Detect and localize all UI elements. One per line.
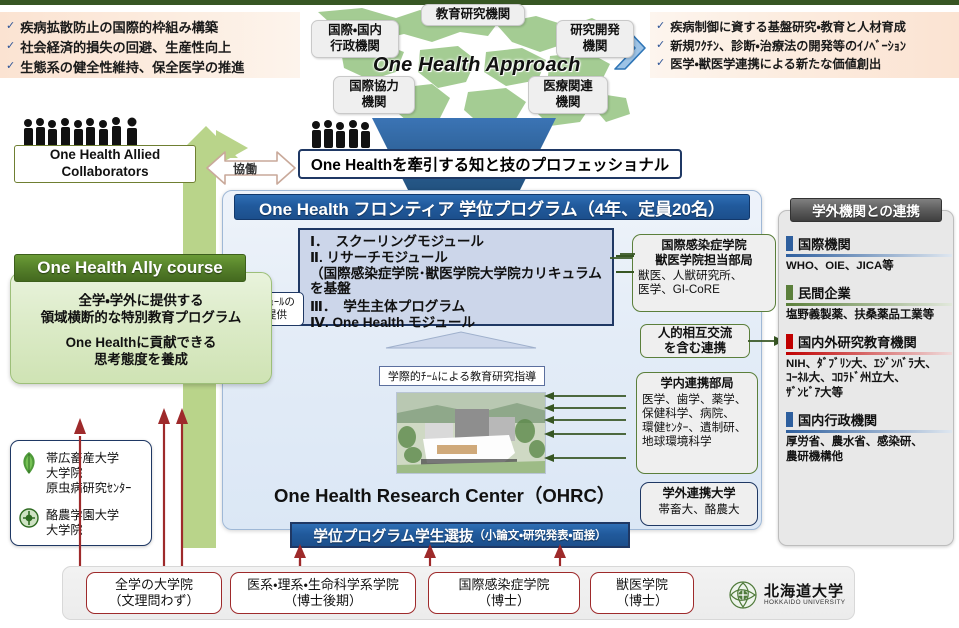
external-category: 国際機関 WHO、OIE、JICA等 — [786, 234, 952, 274]
interdisciplinary-team-text: 学際的ﾁｰﾑによる教育研究指導 — [388, 368, 536, 384]
university-name-en: HOKKAIDO UNIVERSITY — [764, 599, 845, 606]
infectious-disease-school-box: 国際感染症学院 獣医学院担当部局 獣医、人獣研究所、 医学、GI-CoRE — [632, 234, 776, 312]
upward-chevron-shape — [386, 330, 536, 348]
category-body: WHO、OIE、JICA等 — [786, 259, 952, 274]
source-box-label: 医系・理系・生命科学系学院 （博士後期） — [247, 577, 399, 610]
bullet-row: ✓医学・獣医学連携による新たな価値創出 — [656, 55, 951, 74]
human-exchange-box: 人的相互交流 を含む連携 — [640, 324, 750, 358]
bullet-text: 医学・獣医学連携による新たな価値創出 — [670, 55, 881, 74]
source-box-infectious-disease[interactable]: 国際感染症学院 （博士） — [428, 572, 580, 614]
professional-banner: One Healthを牽引する知と技のプロフェッショナル — [298, 149, 682, 179]
org-chip-label: 医療関連 機関 — [543, 79, 593, 111]
degree-program-title-bar: One Health フロンティア 学位プログラム（4年、定員20名） — [234, 194, 750, 220]
bullet-row: ✓疾病制御に資する基盤研究・教育と人材育成 — [656, 18, 951, 37]
category-body: NIH、ﾀﾞﾌﾞﾘﾝ大、ｴｼﾞﾝﾊﾞﾗ大、 ｺｰﾈﾙ大、ｺﾛﾗﾄﾞ州立大、 ｻﾞ… — [786, 357, 952, 401]
org-chip-rd: 研究開発 機関 — [556, 20, 634, 58]
ally-course-body-1: 全学・学外に提供する 領域横断的な特別教育プログラム — [14, 292, 268, 327]
external-partners-header-label: 学外機関との連携 — [812, 200, 920, 220]
university-name-ja: 北海道大学 — [764, 584, 845, 600]
bullet-text: 新規ﾜｸﾁﾝ、診断・治療法の開発等のｲﾉﾍﾞｰｼｮﾝ — [670, 37, 906, 56]
org-chip-medical: 医療関連 機関 — [528, 76, 608, 114]
category-title: 国内外研究教育機関 — [798, 332, 917, 351]
source-box-label: 獣医学院 （博士） — [616, 577, 668, 610]
diagram-canvas: ✓疾病拡散防止の国際的枠組み構築 ✓社会経済的損失の回避、生産性向上 ✓生態系の… — [0, 0, 959, 628]
hokudai-crest-icon — [728, 580, 758, 610]
infectious-school-head: 国際感染症学院 獣医学院担当部局 — [638, 238, 770, 267]
allied-collaborators-box: One Health Allied Collaborators — [14, 145, 196, 183]
category-color-bar — [786, 236, 793, 251]
source-box-medical-science[interactable]: 医系・理系・生命科学系学院 （博士後期） — [230, 572, 416, 614]
category-rule — [786, 303, 952, 306]
one-health-approach-title: One Health Approach — [373, 54, 581, 77]
professional-banner-label: One Healthを牽引する知と技のプロフェッショナル — [311, 153, 669, 175]
degree-program-title: One Health フロンティア 学位プログラム（4年、定員20名） — [259, 195, 725, 220]
bullet-text: 疾病拡散防止の国際的枠組み構築 — [20, 18, 218, 38]
ally-course-header-label: One Health Ally course — [37, 258, 222, 278]
org-chip-label: 研究開発 機関 — [570, 23, 620, 55]
top-right-bullet-panel: ✓疾病制御に資する基盤研究・教育と人材育成 ✓新規ﾜｸﾁﾝ、診断・治療法の開発等… — [650, 12, 959, 78]
external-category: 国内外研究教育機関 NIH、ﾀﾞﾌﾞﾘﾝ大、ｴｼﾞﾝﾊﾞﾗ大、 ｺｰﾈﾙ大、ｺﾛ… — [786, 332, 952, 401]
bullet-text: 疾病制御に資する基盤研究・教育と人材育成 — [670, 18, 906, 37]
category-title: 民間企業 — [798, 283, 851, 302]
allied-collaborators-label: One Health Allied Collaborators — [50, 147, 160, 181]
people-silhouettes-right — [310, 120, 372, 148]
bullet-row: ✓新規ﾜｸﾁﾝ、診断・治療法の開発等のｲﾉﾍﾞｰｼｮﾝ — [656, 37, 951, 56]
source-box-all-graduate[interactable]: 全学の大学院 （文理問わず） — [86, 572, 222, 614]
hokkaido-university-logo: 北海道大学 HOKKAIDO UNIVERSITY — [728, 580, 845, 610]
bullet-row: ✓社会経済的損失の回避、生産性向上 — [6, 38, 292, 58]
category-rule — [786, 352, 952, 355]
human-exchange-label: 人的相互交流 を含む連携 — [658, 326, 732, 356]
infectious-connector-lines — [616, 250, 636, 284]
collaboration-arrow-label: 協働 — [233, 160, 257, 177]
category-body: 塩野義製薬、扶桑薬品工業等 — [786, 308, 952, 323]
check-icon: ✓ — [6, 18, 15, 36]
external-partners-header: 学外機関との連携 — [790, 198, 942, 222]
source-box-label: 全学の大学院 （文理問わず） — [108, 577, 199, 610]
bullet-row: ✓生態系の健全性維持、保全医学の推進 — [6, 58, 292, 78]
interdisciplinary-team-label: 学際的ﾁｰﾑによる教育研究指導 — [379, 366, 545, 386]
category-color-bar — [786, 334, 793, 349]
hokkaido-university-text: 北海道大学 HOKKAIDO UNIVERSITY — [764, 584, 845, 607]
top-left-bullet-panel: ✓疾病拡散防止の国際的枠組み構築 ✓社会経済的損失の回避、生産性向上 ✓生態系の… — [0, 12, 300, 78]
org-chip-label: 国際協力 機関 — [349, 79, 399, 111]
check-icon: ✓ — [656, 18, 665, 36]
org-chip-intl-coop: 国際協力 機関 — [333, 76, 415, 114]
category-title: 国際機関 — [798, 234, 851, 253]
ally-course-header: One Health Ally course — [14, 254, 246, 282]
check-icon: ✓ — [6, 58, 15, 76]
external-category: 民間企業 塩野義製薬、扶桑薬品工業等 — [786, 283, 952, 323]
internal-collab-head: 学内連携部局 — [642, 376, 752, 391]
bullet-text: 生態系の健全性維持、保全医学の推進 — [20, 58, 244, 78]
check-icon: ✓ — [656, 37, 665, 55]
check-icon: ✓ — [656, 55, 665, 73]
check-icon: ✓ — [6, 38, 15, 56]
source-box-veterinary[interactable]: 獣医学院 （博士） — [590, 572, 694, 614]
bullet-text: 社会経済的損失の回避、生産性向上 — [20, 38, 231, 58]
category-rule — [786, 254, 952, 257]
org-chip-education-research: 教育研究機関 — [421, 4, 525, 26]
source-box-label: 国際感染症学院 （博士） — [458, 577, 549, 610]
bullet-row: ✓疾病拡散防止の国際的枠組み構築 — [6, 18, 292, 38]
infectious-school-body: 獣医、人獣研究所、 医学、GI-CoRE — [638, 269, 770, 297]
org-chip-label: 国際・国内 行政機関 — [328, 23, 382, 55]
ally-course-body-2: One Healthに貢献できる 思考態度を養成 — [14, 334, 268, 369]
org-chip-admin: 国際・国内 行政機関 — [311, 20, 399, 58]
category-color-bar — [786, 285, 793, 300]
org-chip-label: 教育研究機関 — [436, 7, 510, 23]
